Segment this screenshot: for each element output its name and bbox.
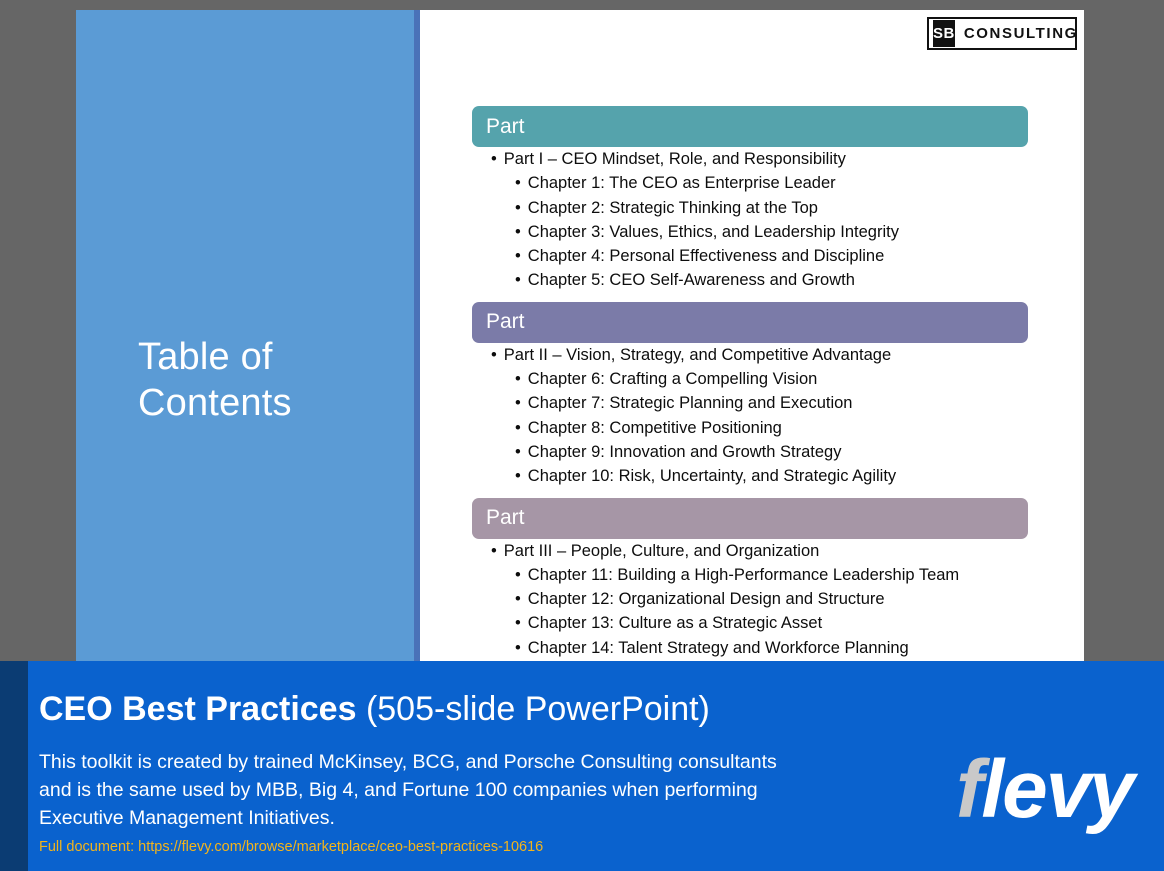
- flevy-logo-levy: levy: [981, 744, 1133, 835]
- list-item: •Part II – Vision, Strategy, and Competi…: [472, 343, 1028, 367]
- promo-title-light: (505-slide PowerPoint): [357, 690, 710, 728]
- sb-monogram-icon: SB: [933, 20, 955, 47]
- list-item-label: Chapter 11: Building a High-Performance …: [528, 566, 959, 584]
- promo-banner: CEO Best Practices (505-slide PowerPoint…: [0, 661, 1164, 871]
- spacer: [472, 489, 1028, 498]
- part-item-list: •Part III – People, Culture, and Organiz…: [472, 539, 1028, 665]
- list-item-label: Chapter 8: Competitive Positioning: [528, 419, 782, 437]
- left-title-panel: Table of Contents: [76, 10, 414, 665]
- list-item-label: Chapter 7: Strategic Planning and Execut…: [528, 394, 853, 412]
- list-item-label: Part II – Vision, Strategy, and Competit…: [504, 346, 891, 364]
- list-item: •Chapter 6: Crafting a Compelling Vision: [472, 367, 1028, 391]
- slide-canvas: Table of Contents SB CONSULTING Part •Pa…: [76, 10, 1084, 665]
- part-header-label: Part: [486, 115, 525, 139]
- bullet-icon: •: [515, 443, 521, 461]
- list-item: •Chapter 1: The CEO as Enterprise Leader: [472, 171, 1028, 195]
- bullet-icon: •: [515, 614, 521, 632]
- page-title-line-1: Table of: [138, 334, 398, 380]
- list-item-label: Chapter 3: Values, Ethics, and Leadershi…: [528, 223, 899, 241]
- list-item: •Part III – People, Culture, and Organiz…: [472, 539, 1028, 563]
- bullet-icon: •: [515, 566, 521, 584]
- promo-description: This toolkit is created by trained McKin…: [39, 748, 809, 832]
- page-title: Table of Contents: [138, 334, 398, 426]
- list-item: •Chapter 2: Strategic Thinking at the To…: [472, 196, 1028, 220]
- list-item: •Chapter 8: Competitive Positioning: [472, 416, 1028, 440]
- list-item: •Chapter 7: Strategic Planning and Execu…: [472, 391, 1028, 415]
- list-item-label: Part III – People, Culture, and Organiza…: [504, 542, 820, 560]
- list-item-label: Chapter 12: Organizational Design and St…: [528, 590, 885, 608]
- part-block: Part •Part I – CEO Mindset, Role, and Re…: [472, 106, 1028, 302]
- promo-document-link[interactable]: Full document: https://flevy.com/browse/…: [39, 839, 543, 855]
- bullet-icon: •: [515, 271, 521, 289]
- list-item: •Chapter 3: Values, Ethics, and Leadersh…: [472, 220, 1028, 244]
- list-item: •Chapter 14: Talent Strategy and Workfor…: [472, 636, 1028, 660]
- bullet-icon: •: [515, 223, 521, 241]
- bullet-icon: •: [515, 370, 521, 388]
- list-item-label: Chapter 6: Crafting a Compelling Vision: [528, 370, 818, 388]
- panel-accent-stripe: [414, 10, 420, 665]
- flevy-logo[interactable]: flevy: [956, 749, 1133, 831]
- promo-title: CEO Best Practices (505-slide PowerPoint…: [39, 689, 710, 729]
- list-item-label: Chapter 14: Talent Strategy and Workforc…: [528, 639, 909, 657]
- bullet-icon: •: [491, 542, 497, 560]
- list-item: •Chapter 10: Risk, Uncertainty, and Stra…: [472, 464, 1028, 488]
- list-item: •Chapter 11: Building a High-Performance…: [472, 563, 1028, 587]
- bullet-icon: •: [515, 247, 521, 265]
- bullet-icon: •: [515, 199, 521, 217]
- list-item-label: Chapter 1: The CEO as Enterprise Leader: [528, 174, 836, 192]
- list-item-label: Chapter 2: Strategic Thinking at the Top: [528, 199, 818, 217]
- sb-logo-wordmark: CONSULTING: [964, 25, 1078, 42]
- bullet-icon: •: [515, 419, 521, 437]
- part-block: Part •Part II – Vision, Strategy, and Co…: [472, 302, 1028, 498]
- part-block: Part •Part III – People, Culture, and Or…: [472, 498, 1028, 665]
- list-item-label: Chapter 10: Risk, Uncertainty, and Strat…: [528, 467, 896, 485]
- page-title-line-2: Contents: [138, 380, 398, 426]
- list-item-label: Chapter 9: Innovation and Growth Strateg…: [528, 443, 842, 461]
- promo-banner-inner: CEO Best Practices (505-slide PowerPoint…: [28, 661, 1164, 871]
- bullet-icon: •: [515, 174, 521, 192]
- promo-title-strong: CEO Best Practices: [39, 690, 357, 728]
- part-item-list: •Part I – CEO Mindset, Role, and Respons…: [472, 147, 1028, 293]
- list-item-label: Part I – CEO Mindset, Role, and Responsi…: [504, 150, 846, 168]
- list-item: •Chapter 12: Organizational Design and S…: [472, 587, 1028, 611]
- spacer: [472, 293, 1028, 302]
- part-item-list: •Part II – Vision, Strategy, and Competi…: [472, 343, 1028, 489]
- bullet-icon: •: [515, 467, 521, 485]
- list-item-label: Chapter 13: Culture as a Strategic Asset: [528, 614, 822, 632]
- bullet-icon: •: [491, 346, 497, 364]
- part-header-label: Part: [486, 506, 525, 530]
- flevy-logo-f: f: [956, 744, 981, 835]
- list-item: •Chapter 4: Personal Effectiveness and D…: [472, 244, 1028, 268]
- list-item: •Chapter 13: Culture as a Strategic Asse…: [472, 611, 1028, 635]
- table-of-contents: Part •Part I – CEO Mindset, Role, and Re…: [472, 106, 1028, 665]
- part-header-bar: Part: [472, 302, 1028, 343]
- list-item-label: Chapter 4: Personal Effectiveness and Di…: [528, 247, 884, 265]
- bullet-icon: •: [515, 639, 521, 657]
- part-header-label: Part: [486, 310, 525, 334]
- list-item: •Chapter 9: Innovation and Growth Strate…: [472, 440, 1028, 464]
- bullet-icon: •: [515, 394, 521, 412]
- sb-consulting-logo: SB CONSULTING: [927, 17, 1077, 50]
- part-header-bar: Part: [472, 498, 1028, 539]
- list-item-label: Chapter 5: CEO Self-Awareness and Growth: [528, 271, 855, 289]
- part-header-bar: Part: [472, 106, 1028, 147]
- list-item: •Chapter 5: CEO Self-Awareness and Growt…: [472, 268, 1028, 292]
- bullet-icon: •: [515, 590, 521, 608]
- list-item: •Part I – CEO Mindset, Role, and Respons…: [472, 147, 1028, 171]
- bullet-icon: •: [491, 150, 497, 168]
